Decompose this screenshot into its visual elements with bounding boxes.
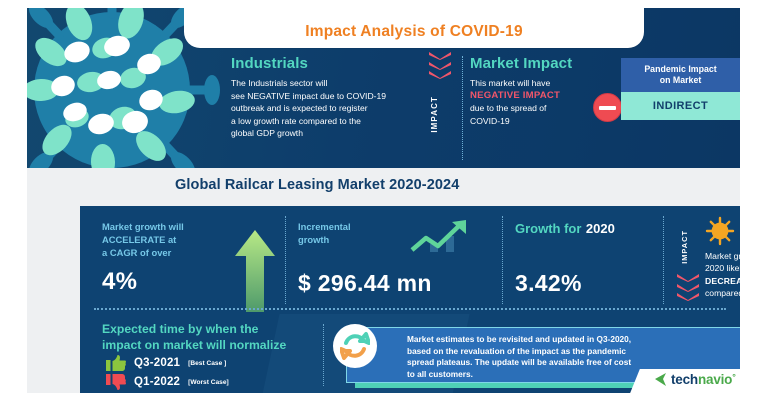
impact-2020-description: Market growth in 2020 likely to DECREASE…	[705, 250, 740, 300]
metric-cagr: Market growth will ACCELERATE at a CAGR …	[102, 220, 222, 259]
top-section: Impact Analysis of COVID-19 Industrials …	[27, 8, 740, 168]
cagr-line-2: ACCELERATE at	[102, 233, 222, 246]
industrials-body: The Industrials sector will see NEGATIVE…	[231, 77, 436, 140]
impact-2020-line-3: compared to 2019	[705, 287, 740, 299]
metric-growth-2020: Growth for 2020 3.42%	[515, 220, 665, 238]
minus-circle-icon	[593, 93, 622, 122]
thumbs-down-icon	[106, 374, 126, 390]
market-impact-emphasis: NEGATIVE IMPACT	[470, 90, 610, 103]
worst-case-row: Q1-2022 [Worst Case]	[106, 374, 229, 390]
bottom-panel: Expected time by when the impact on mark…	[80, 314, 740, 393]
impact-vertical-label-2: IMPACT	[680, 230, 689, 264]
impact-2020-line-2: 2020 likely to	[705, 262, 740, 274]
callout-line-1: Market estimates to be revisited and upd…	[407, 334, 740, 346]
pandemic-impact-badge: Pandemic Impact on Market INDIRECT	[621, 58, 740, 120]
cagr-description: Market growth will ACCELERATE at a CAGR …	[102, 220, 222, 259]
metrics-panel: Market growth will ACCELERATE at a CAGR …	[80, 206, 740, 314]
metrics-divider-1	[285, 216, 286, 304]
normalize-block: Expected time by when the impact on mark…	[102, 322, 322, 353]
callout-line-2: based on the revaluation of the impact a…	[407, 346, 740, 358]
metrics-bottom-dotted-rule	[94, 308, 726, 310]
logo-text-tech: tech	[671, 372, 698, 387]
market-impact-line-1: This market will have	[470, 77, 610, 90]
refresh-icon	[333, 324, 377, 368]
logo-trademark: °	[732, 372, 735, 382]
normalize-heading-line-2: impact on market will normalize	[102, 338, 322, 354]
industrials-heading: Industrials	[231, 55, 436, 72]
technavio-logo: technavio°	[655, 372, 736, 387]
impact-indicator-top: IMPACT	[423, 52, 463, 160]
up-arrow-icon	[235, 230, 275, 312]
cagr-line-1: Market growth will	[102, 220, 222, 233]
growth-2020-label: Growth for 2020	[515, 220, 665, 238]
growth-2020-value: 3.42%	[515, 270, 582, 297]
cagr-value: 4%	[102, 268, 137, 296]
industrials-line-4: a low growth rate compared to the	[231, 115, 436, 128]
infographic-canvas: Impact Analysis of COVID-19 Industrials …	[27, 8, 740, 393]
worst-case-label: [Worst Case]	[188, 379, 229, 386]
market-impact-heading: Market Impact	[470, 55, 610, 72]
impact-vertical-label: IMPACT	[430, 96, 439, 133]
badge-header-line-1: Pandemic Impact	[625, 64, 736, 75]
industrials-line-5: global GDP growth	[231, 127, 436, 140]
market-impact-line-2: due to the spread of	[470, 102, 610, 115]
callout-line-3: spread plateaus. The update will be avai…	[407, 357, 740, 369]
normalize-heading: Expected time by when the impact on mark…	[102, 322, 322, 353]
industrials-line-2: see NEGATIVE impact due to COVID-19	[231, 90, 436, 103]
best-case-label: [Best Case ]	[188, 360, 226, 367]
metrics-divider-3	[663, 216, 664, 304]
best-case-row: Q3-2021 [Best Case ]	[106, 355, 226, 371]
industrials-block: Industrials The Industrials sector will …	[231, 55, 436, 140]
industrials-line-3: outbreak and is expected to register	[231, 102, 436, 115]
thumbs-up-icon	[106, 355, 126, 371]
growth-sparkline-icon	[410, 220, 472, 256]
market-impact-body: This market will have NEGATIVE IMPACT du…	[470, 77, 610, 127]
virus-sun-icon	[705, 216, 735, 246]
bottom-divider	[323, 324, 324, 386]
incremental-value: $ 296.44 mn	[298, 270, 432, 297]
infographic-root: Impact Analysis of COVID-19 Industrials …	[0, 0, 768, 401]
market-impact-line-3: COVID-19	[470, 115, 610, 128]
market-title: Global Railcar Leasing Market 2020-2024	[175, 177, 459, 193]
worst-case-quarter: Q1-2022	[134, 376, 180, 388]
industrials-line-1: The Industrials sector will	[231, 77, 436, 90]
technavio-mark-icon	[655, 373, 668, 386]
impact-2020-emphasis: DECREASE	[705, 276, 740, 286]
badge-value: INDIRECT	[621, 92, 740, 120]
page-title: Impact Analysis of COVID-19	[184, 23, 644, 41]
title-banner: Impact Analysis of COVID-19	[184, 8, 644, 48]
market-impact-block: Market Impact This market will have NEGA…	[470, 55, 610, 127]
badge-header: Pandemic Impact on Market	[621, 58, 740, 92]
logo-text-navio: navio	[698, 372, 732, 387]
down-chevron-stack-icon	[429, 52, 457, 82]
metrics-divider-2	[502, 216, 503, 304]
cagr-line-3: a CAGR of over	[102, 246, 222, 259]
growth-2020-label-year: 2020	[586, 221, 615, 236]
growth-2020-label-mint: Growth for	[515, 221, 581, 236]
market-title-band: Global Railcar Leasing Market 2020-2024	[27, 168, 740, 206]
badge-header-line-2: on Market	[625, 75, 736, 86]
down-chevron-stack-icon-2	[677, 274, 701, 300]
impact-2020-line-1: Market growth in	[705, 250, 740, 262]
normalize-heading-line-1: Expected time by when the	[102, 322, 322, 338]
top-divider	[462, 56, 463, 160]
best-case-quarter: Q3-2021	[134, 357, 180, 369]
